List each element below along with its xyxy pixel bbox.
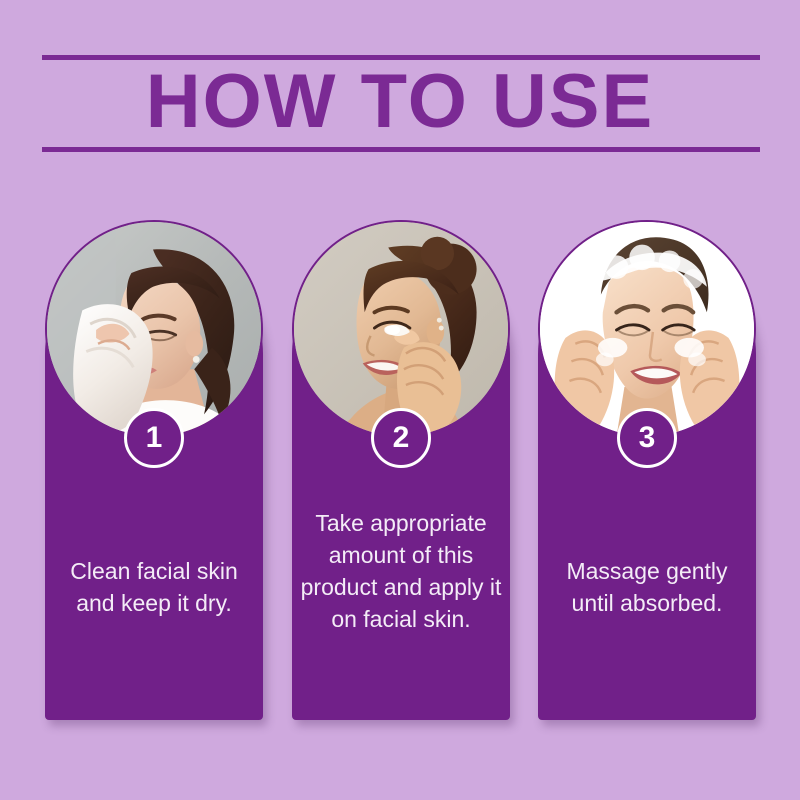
- woman-massaging-foam-on-face-photo: [540, 222, 754, 436]
- step-caption-3: Massage gently until absorbed.: [546, 555, 748, 619]
- step-card-2-photo-frame: [292, 220, 510, 438]
- step-number-3: 3: [639, 423, 656, 453]
- step-number-2: 2: [393, 423, 410, 453]
- step-badge-2: 2: [371, 408, 431, 468]
- infographic-canvas: HOW TO USE: [0, 0, 800, 800]
- steps-row: 1 Clean facial skin and keep it dry.: [0, 0, 800, 800]
- step-card-1: 1 Clean facial skin and keep it dry.: [45, 245, 263, 720]
- step-badge-3: 3: [617, 408, 677, 468]
- step-card-3-photo-frame: [538, 220, 756, 438]
- step-card-1-photo-frame: [45, 220, 263, 438]
- woman-applying-cream-to-cheek-photo: [294, 222, 508, 436]
- step-card-3: 3 Massage gently until absorbed.: [538, 245, 756, 720]
- step-number-1: 1: [146, 423, 163, 453]
- step-card-2: 2 Take appropriate amount of this produc…: [292, 245, 510, 720]
- step-caption-2: Take appropriate amount of this product …: [300, 507, 502, 635]
- step-badge-1: 1: [124, 408, 184, 468]
- step-caption-1: Clean facial skin and keep it dry.: [53, 555, 255, 619]
- woman-wiping-face-with-towel-photo: [47, 222, 261, 436]
